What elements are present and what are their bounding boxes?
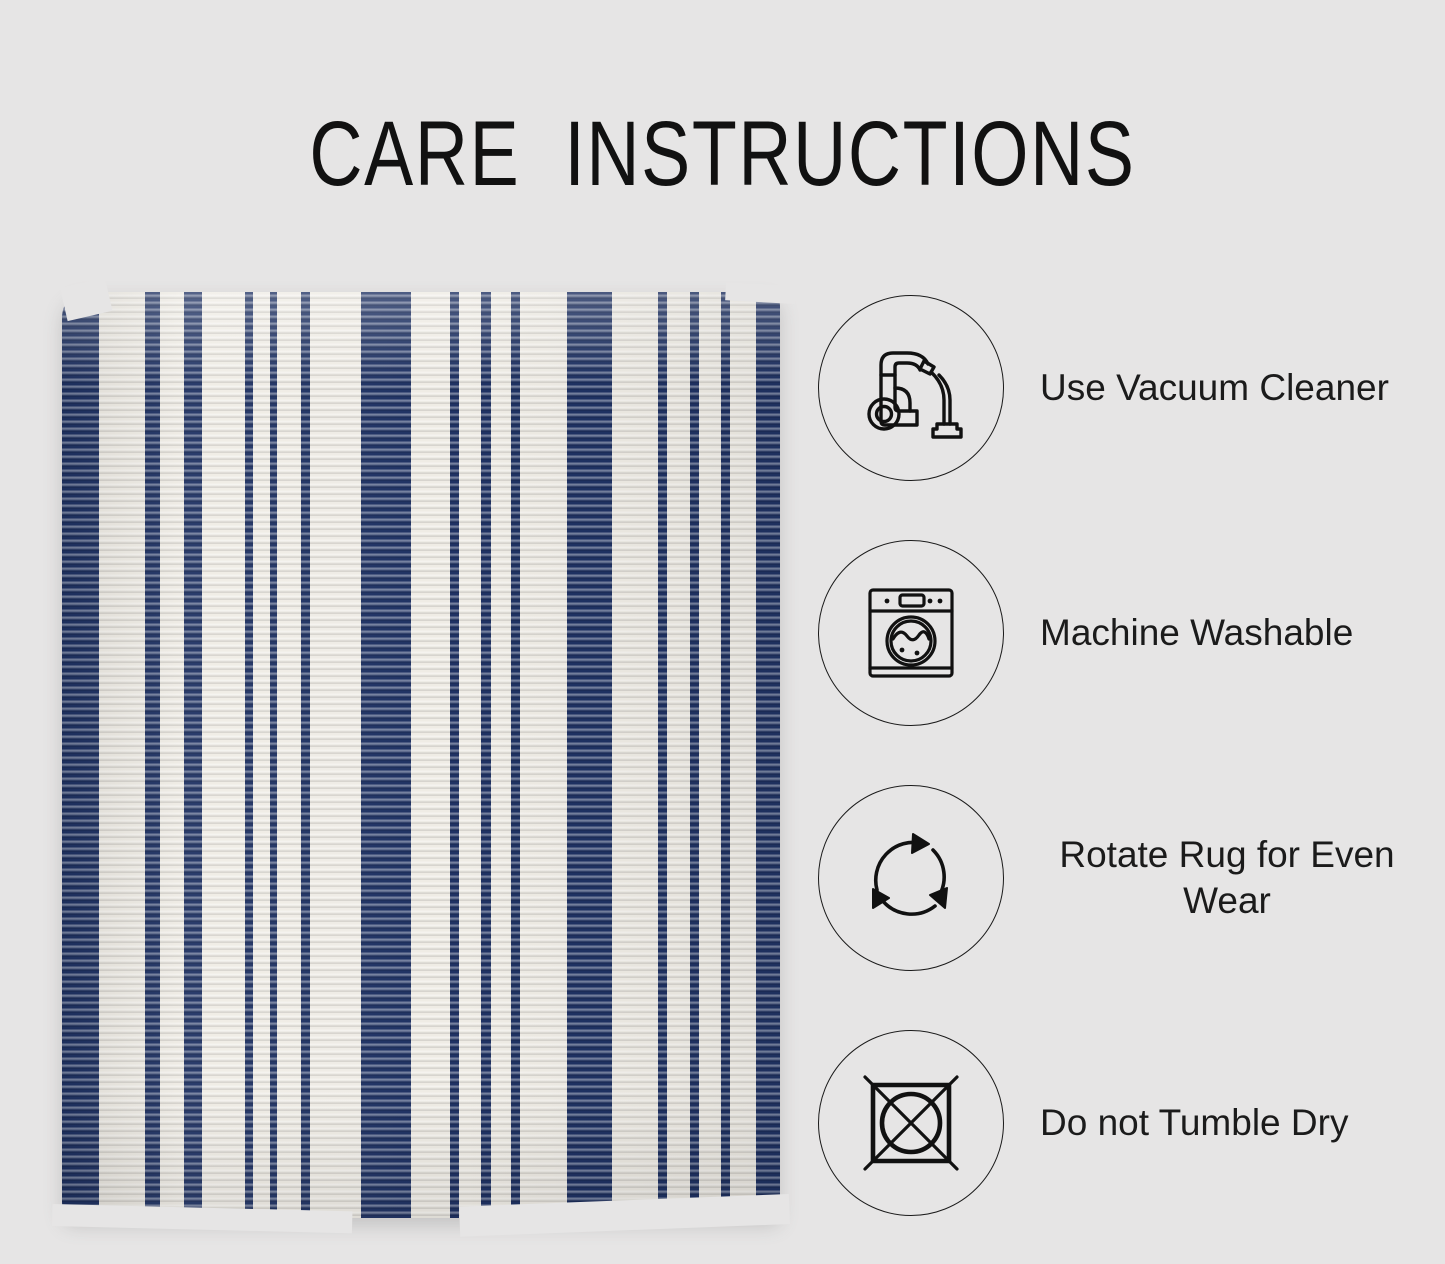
rotate-arrows-icon bbox=[818, 785, 1004, 971]
rug-swatch bbox=[62, 292, 780, 1218]
do-not-tumble-dry-icon bbox=[818, 1030, 1004, 1216]
rug-stripe bbox=[184, 292, 202, 1218]
vacuum-cleaner-icon bbox=[818, 295, 1004, 481]
rug-stripe bbox=[721, 292, 730, 1218]
product-image bbox=[62, 292, 780, 1218]
instruction-item-vacuum: Use Vacuum Cleaner bbox=[818, 292, 1438, 484]
rug-stripe bbox=[481, 292, 490, 1218]
rug-stripe bbox=[756, 292, 780, 1218]
rug-stripe bbox=[270, 292, 277, 1218]
care-instruction-list: Use Vacuum Cleaner bbox=[818, 292, 1438, 1222]
instruction-label-rotate: Rotate Rug for Even Wear bbox=[1004, 832, 1438, 924]
instruction-item-rotate: Rotate Rug for Even Wear bbox=[818, 782, 1438, 974]
rug-stripe bbox=[511, 292, 520, 1218]
rug-stripe bbox=[145, 292, 159, 1218]
rug-stripe bbox=[450, 292, 459, 1218]
rug-stripe bbox=[62, 292, 99, 1218]
instruction-label-no-tumble-dry: Do not Tumble Dry bbox=[1004, 1100, 1438, 1146]
rug-stripe bbox=[690, 292, 699, 1218]
rug-stripe bbox=[301, 292, 310, 1218]
rug-stripe-pattern bbox=[62, 292, 780, 1218]
instruction-label-vacuum: Use Vacuum Cleaner bbox=[1004, 365, 1438, 411]
rug-stripe bbox=[361, 292, 411, 1218]
rug-stripe bbox=[658, 292, 667, 1218]
instruction-item-machine-wash: Machine Washable bbox=[818, 537, 1438, 729]
rug-stripe bbox=[567, 292, 612, 1218]
washing-machine-icon bbox=[818, 540, 1004, 726]
page-title: CARE INSTRUCTIONS bbox=[145, 104, 1301, 204]
instruction-label-machine-wash: Machine Washable bbox=[1004, 610, 1438, 656]
rug-stripe bbox=[245, 292, 253, 1218]
instruction-item-no-tumble-dry: Do not Tumble Dry bbox=[818, 1027, 1438, 1219]
